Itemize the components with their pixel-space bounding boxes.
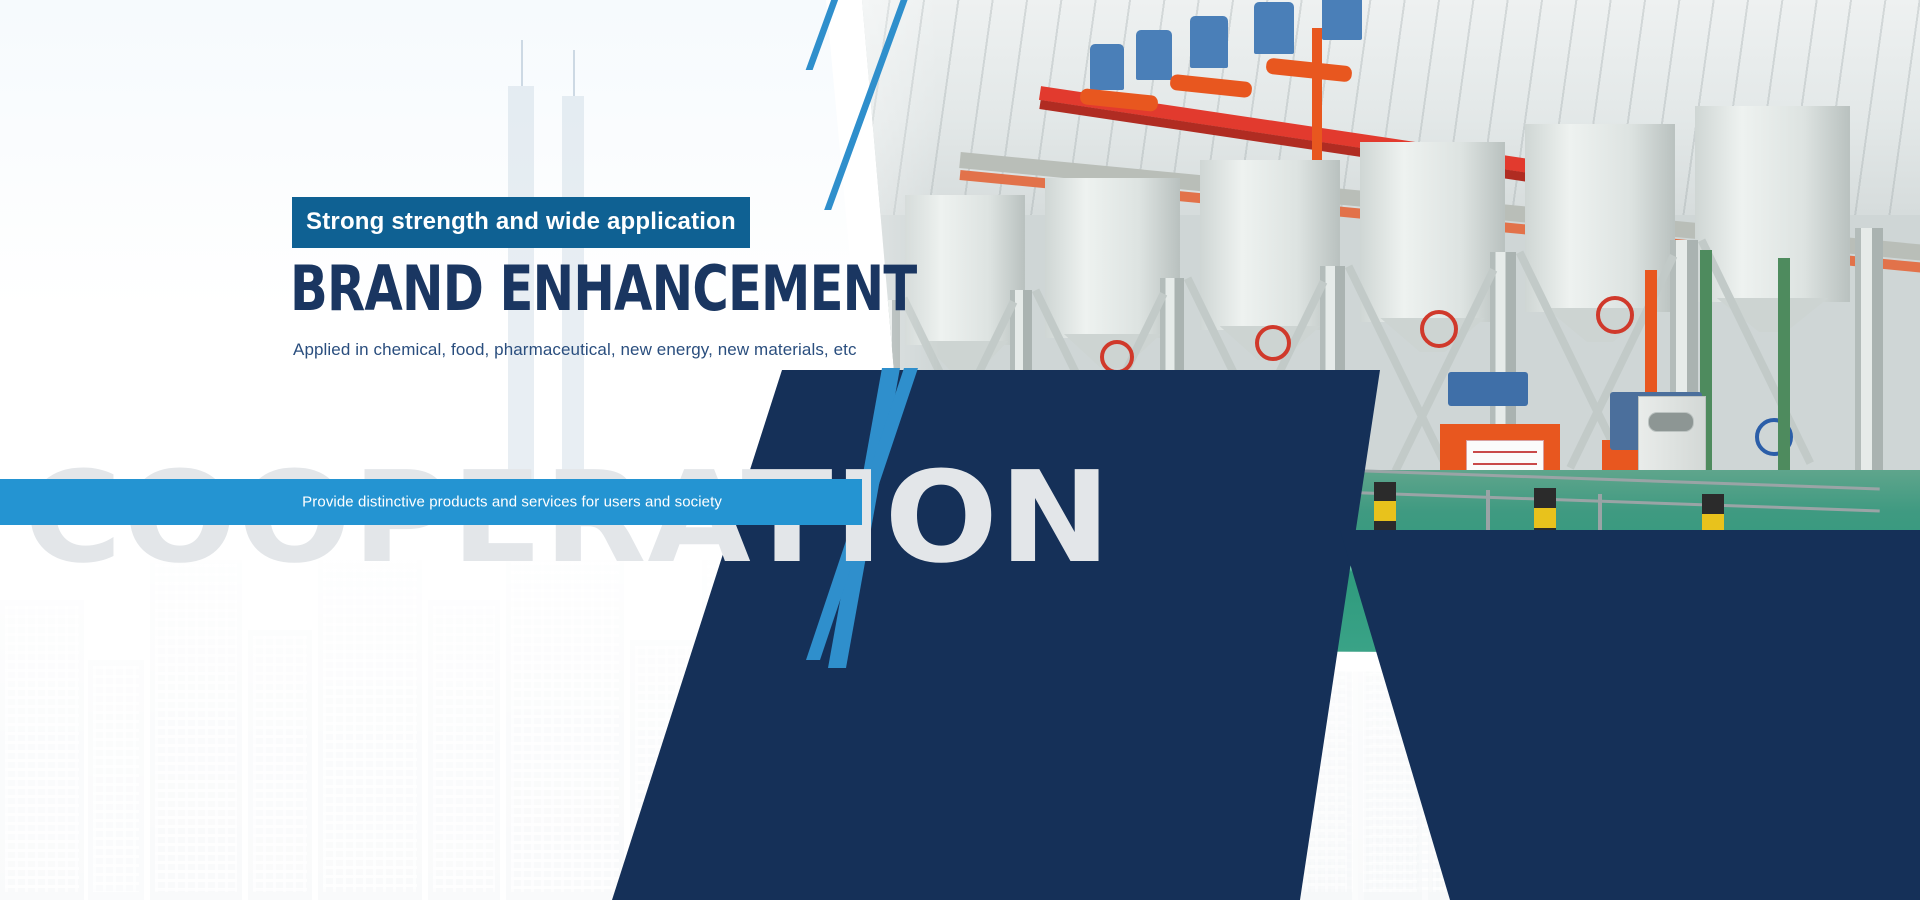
eyebrow-badge: Strong strength and wide application <box>292 197 750 248</box>
page-title: BRAND ENHANCEMENT <box>290 256 916 321</box>
tagline-text: Provide distinctive products and service… <box>302 494 722 511</box>
hero-banner: COOPERATION Strong strength and wide app… <box>0 0 1920 900</box>
subtitle-text: Applied in chemical, food, pharmaceutica… <box>293 340 857 360</box>
tagline-bar: Provide distinctive products and service… <box>0 479 862 525</box>
